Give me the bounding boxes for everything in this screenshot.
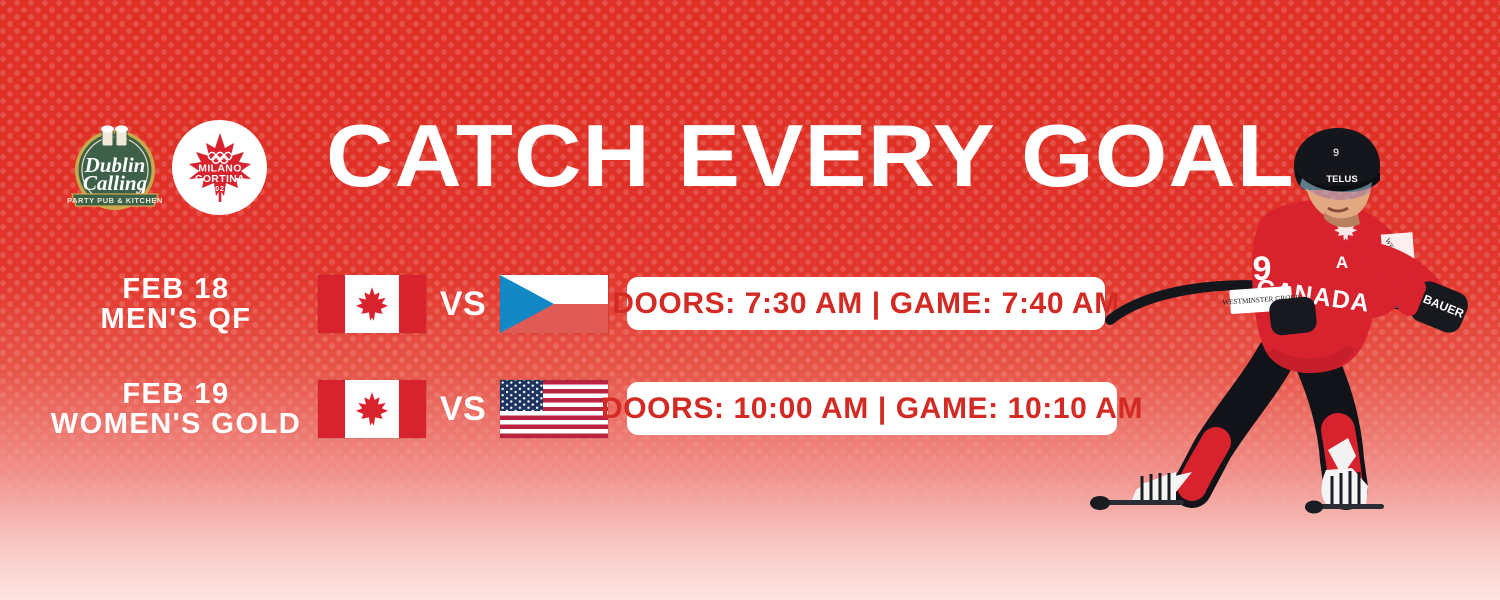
helmet-brand-label: TELUS	[1326, 174, 1358, 185]
alternate-captain-letter: A	[1336, 253, 1348, 272]
promo-banner: Dublin Calling PARTY PUB & KITCHEN MILAN…	[0, 0, 1500, 600]
dublin-calling-logo[interactable]: Dublin Calling PARTY PUB & KITCHEN	[66, 120, 164, 215]
flag-united-states-icon	[500, 380, 608, 438]
schedule-date-block: FEB 19 WOMEN'S GOLD	[40, 379, 312, 439]
vs-label: VS	[426, 390, 500, 429]
flag-canada-icon	[318, 380, 426, 438]
schedule-event: MEN'S QF	[40, 304, 312, 334]
milano-logo-line1: MILANO	[198, 163, 241, 174]
schedule-date: FEB 18	[40, 274, 312, 304]
milano-cortina-2026-logo[interactable]: MILANO CORTINA 2026	[172, 120, 267, 215]
showtime-pill: DOORS: 7:30 AM | GAME: 7:40 AM	[627, 277, 1105, 330]
maple-leaf-icon	[353, 285, 391, 323]
milano-logo-year: 2026	[210, 186, 229, 193]
dublin-logo-line2: Calling	[83, 171, 147, 195]
matchup: VS	[318, 274, 608, 334]
maple-leaf-icon	[353, 390, 391, 428]
matchup: VS	[318, 379, 608, 439]
helmet: 9 TELUS	[1294, 128, 1380, 220]
schedule-event: WOMEN'S GOLD	[40, 409, 312, 439]
milano-logo-line2: CORTINA	[194, 174, 244, 185]
logo-group: Dublin Calling PARTY PUB & KITCHEN MILAN…	[66, 120, 267, 215]
dublin-logo-ribbon: PARTY PUB & KITCHEN	[67, 196, 163, 205]
flag-canada-icon	[318, 275, 426, 333]
schedule-date: FEB 19	[40, 379, 312, 409]
vs-label: VS	[426, 285, 500, 324]
showtime-pill: DOORS: 10:00 AM | GAME: 10:10 AM	[627, 382, 1117, 435]
schedule-date-block: FEB 18 MEN'S QF	[40, 274, 312, 334]
page-title: CATCH EVERY GOAL	[326, 112, 1295, 200]
flag-czech-republic-icon	[500, 275, 608, 333]
helmet-number: 9	[1333, 147, 1339, 159]
